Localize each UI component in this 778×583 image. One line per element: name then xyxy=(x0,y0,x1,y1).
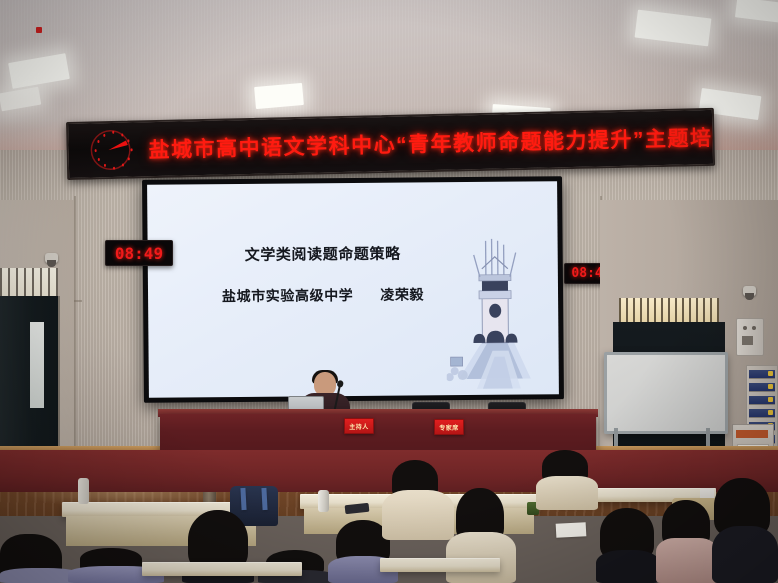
audience-desk xyxy=(380,558,500,572)
water-bottle xyxy=(318,490,329,512)
photo-scene: 盐城市高中语文学科中心“青年教师命题能力提升”主题培训活动 文学类阅读题命题策略… xyxy=(0,0,778,583)
projection-screen: 文学类阅读题命题策略 盐城市实验高级中学 凌荣毅 xyxy=(142,176,564,403)
audience-person xyxy=(536,450,598,510)
transom-bars xyxy=(0,268,58,298)
slide-presenter-name: 凌荣毅 xyxy=(380,287,424,303)
audience-area xyxy=(0,450,778,583)
audience-person xyxy=(712,478,778,583)
surveillance-camera xyxy=(45,253,58,263)
person-coat xyxy=(712,526,778,583)
backpack-strap xyxy=(261,488,267,510)
audience-desk xyxy=(142,562,302,576)
clock-tower-illustration xyxy=(446,238,543,389)
name-placard: 主持人 xyxy=(344,418,374,434)
person-coat xyxy=(596,550,660,583)
audience-person xyxy=(656,500,718,583)
audience-person xyxy=(596,508,660,583)
person-coat xyxy=(536,476,598,510)
led-banner-text: 盐城市高中语文学科中心“青年教师命题能力提升”主题培训活动 xyxy=(148,120,715,164)
person-coat xyxy=(656,538,718,583)
person-coat xyxy=(382,490,454,540)
audience-person xyxy=(382,460,454,540)
mobile-whiteboard xyxy=(604,352,728,434)
right-door-transom xyxy=(619,298,719,322)
surveillance-camera xyxy=(743,286,756,296)
handout-paper xyxy=(556,522,587,538)
presentation-slide: 文学类阅读题命题策略 盐城市实验高级中学 凌荣毅 xyxy=(147,181,559,398)
led-analog-clock-icon xyxy=(82,127,145,172)
door-window-glow xyxy=(30,322,44,408)
transom-bars xyxy=(619,298,719,322)
presenter-badge xyxy=(36,27,42,33)
digital-clock-left: 08:49 xyxy=(105,240,173,266)
placard-text: 专家席 xyxy=(439,423,459,432)
water-bottle xyxy=(78,478,89,504)
placard-text: 主持人 xyxy=(349,422,369,431)
slide-school-name: 盐城市实验高级中学 xyxy=(222,287,354,304)
name-placard: 专家席 xyxy=(434,419,464,435)
ceiling-light-panel xyxy=(254,83,304,109)
wall-electrical-panel xyxy=(736,318,764,356)
wall-seam xyxy=(74,196,76,478)
backpack-strap xyxy=(240,488,246,510)
